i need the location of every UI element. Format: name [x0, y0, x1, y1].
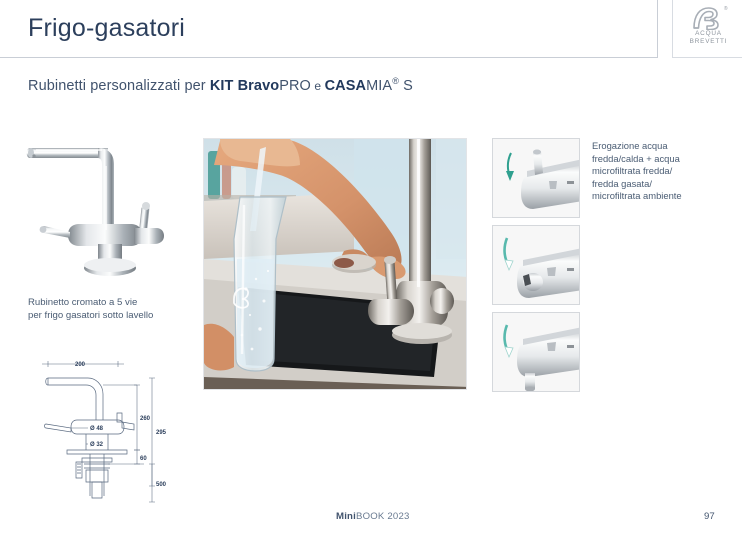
- subtitle-conjunction: e: [311, 79, 325, 93]
- water-dispensing-lifestyle-photo: [203, 138, 467, 390]
- handle-position-microfiltered-cold-thumbnail: [492, 225, 580, 305]
- logo-text-brevetti: BREVETTI: [690, 38, 728, 46]
- dim-spout-reach: 200: [75, 362, 86, 368]
- subtitle-casa-bold: CASA: [325, 78, 367, 94]
- subtitle-prefix: Rubinetti personalizzati per: [28, 78, 210, 94]
- footer-label: MiniBOOK 2023: [336, 511, 410, 522]
- thumbnail-3-illustration: [493, 313, 580, 392]
- faucet-technical-drawing: 200 295 260 Ø 48 Ø 32 60 500: [22, 358, 182, 503]
- dim-under-sink: 500: [156, 482, 167, 488]
- subtitle-registered-mark: ®: [392, 76, 399, 86]
- footer-label-bold: Mini: [336, 511, 356, 522]
- chrome-faucet-product-photo: [22, 136, 182, 291]
- dim-total-height: 295: [156, 430, 167, 436]
- registered-mark-icon: ®: [724, 6, 728, 12]
- dim-base-height: 60: [140, 456, 147, 462]
- subtitle-suffix: S: [399, 78, 413, 94]
- subtitle-casa-light: MIA: [366, 78, 392, 94]
- dim-diameter-base: Ø 32: [90, 442, 104, 448]
- left-caption-line1: Rubinetto cromato a 5 vie: [28, 296, 153, 309]
- handle-position-cold-hot-thumbnail: [492, 138, 580, 218]
- handle-position-sparkling-thumbnail: [492, 312, 580, 392]
- dim-diameter-body: Ø 48: [90, 426, 104, 432]
- footer-label-rest: BOOK 2023: [356, 511, 410, 522]
- right-caption-line3: microfiltrata fredda/: [592, 165, 742, 178]
- right-feature-caption: Erogazione acqua fredda/calda + acqua mi…: [592, 140, 742, 203]
- right-caption-line5: microfiltrata ambiente: [592, 190, 742, 203]
- right-caption-line2: fredda/calda + acqua: [592, 153, 742, 166]
- subtitle-kit-light: PRO: [279, 78, 311, 94]
- thumbnail-1-illustration: [493, 139, 580, 218]
- subtitle-kit-bold: KIT Bravo: [210, 78, 279, 94]
- brand-logo-box: ® ACQUA BREVETTI: [672, 0, 742, 58]
- lifestyle-photo-illustration: [204, 139, 467, 390]
- left-caption-line2: per frigo gasatori sotto lavello: [28, 309, 153, 322]
- page-title: Frigo-gasatori: [28, 14, 185, 43]
- thumbnail-2-illustration: [493, 226, 580, 305]
- right-caption-line4: fredda gasata/: [592, 178, 742, 191]
- left-product-caption: Rubinetto cromato a 5 vie per frigo gasa…: [28, 296, 153, 322]
- acqua-brevetti-monogram-icon: [692, 5, 726, 30]
- page-number: 97: [704, 511, 715, 522]
- right-caption-line1: Erogazione acqua: [592, 140, 742, 153]
- dim-spout-height: 260: [140, 416, 151, 422]
- page-subtitle: Rubinetti personalizzati per KIT BravoPR…: [28, 76, 413, 94]
- logo-text-acqua: ACQUA: [695, 30, 722, 38]
